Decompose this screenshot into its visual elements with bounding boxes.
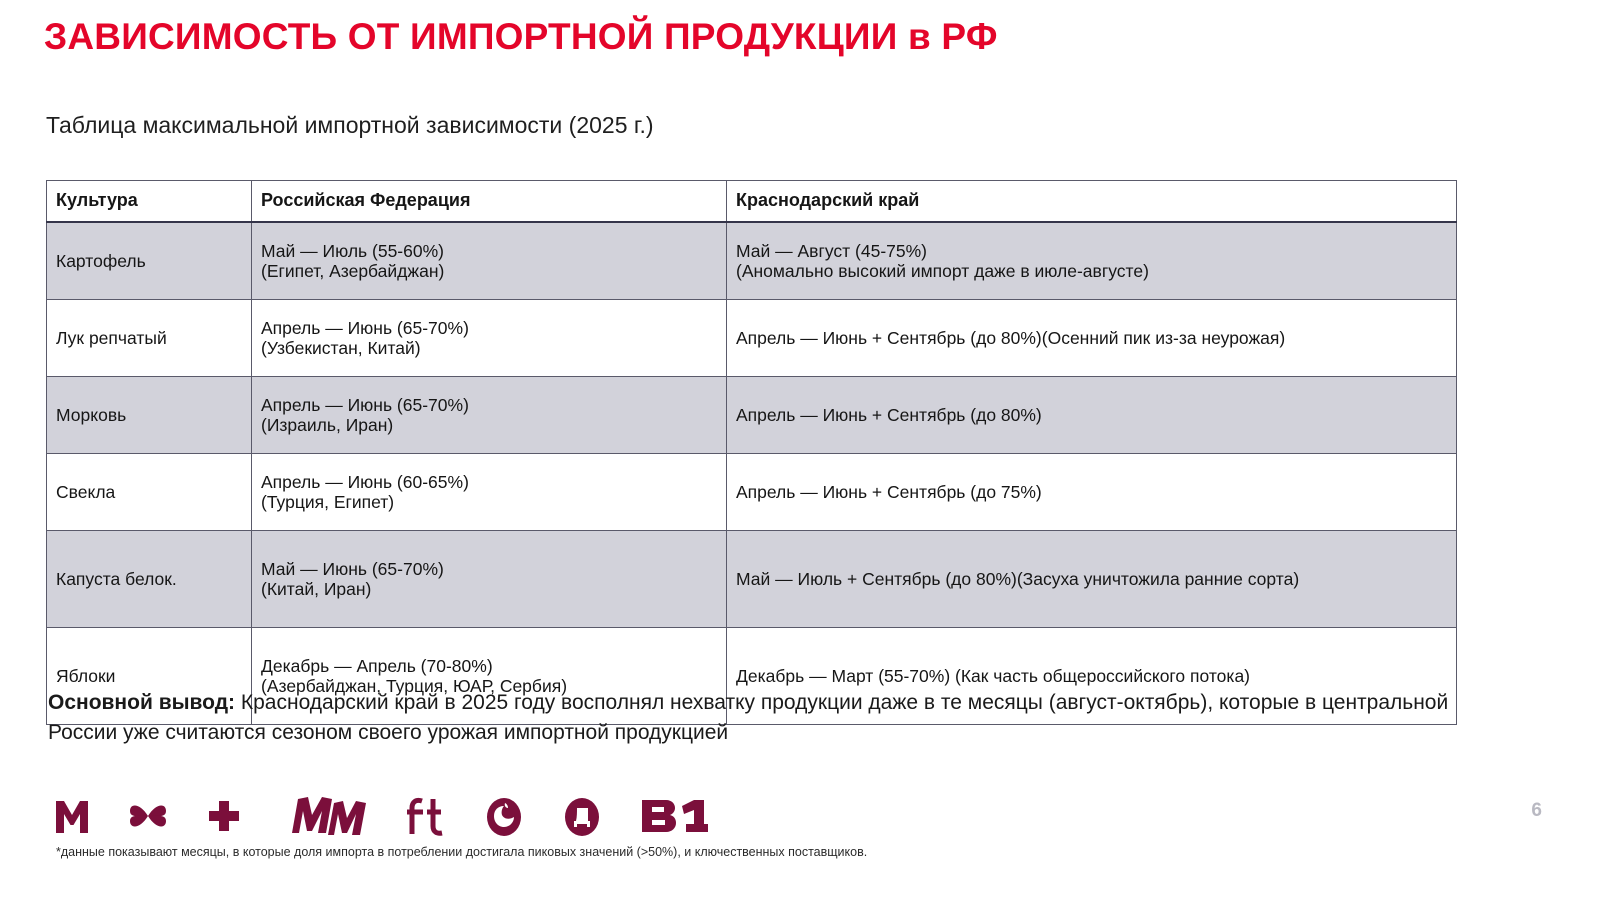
cell-line-primary: Апрель — Июнь (65-70%) (261, 318, 718, 338)
cell-line-primary: Апрель — Июнь (60-65%) (261, 472, 718, 492)
butterfly-logo-icon (126, 795, 170, 837)
conclusion-label: Основной вывод: (48, 691, 235, 714)
footnote-text: *данные показывают месяцы, в которые дол… (56, 845, 867, 859)
table-row: Лук репчатый Апрель — Июнь (65-70%) (Узб… (47, 300, 1457, 377)
cell-line-secondary: (Аномально высокий импорт даже в июле-ав… (736, 261, 1448, 281)
column-header-krasnodar: Краснодарский край (727, 181, 1457, 223)
cell-krasnodar: Апрель — Июнь + Сентябрь (до 80%)(Осенни… (727, 300, 1457, 377)
cell-culture: Картофель (47, 222, 252, 300)
cell-krasnodar: Апрель — Июнь + Сентябрь (до 80%) (727, 377, 1457, 454)
slide-subtitle: Таблица максимальной импортной зависимос… (46, 112, 654, 139)
table-row: Капуста белок. Май — Июнь (65-70%) (Кита… (47, 531, 1457, 628)
cell-culture: Капуста белок. (47, 531, 252, 628)
cell-line-primary: Апрель — Июнь + Сентябрь (до 80%) (736, 405, 1448, 425)
cell-culture: Лук репчатый (47, 300, 252, 377)
table-row: Морковь Апрель — Июнь (65-70%) (Израиль,… (47, 377, 1457, 454)
m-logo-icon (52, 795, 92, 837)
table-row: Свекла Апрель — Июнь (60-65%) (Турция, Е… (47, 454, 1457, 531)
cell-line-primary: Апрель — Июнь (65-70%) (261, 395, 718, 415)
d-circle-logo-icon (560, 793, 604, 839)
cell-line-secondary: (Китай, Иран) (261, 579, 718, 599)
table-header-row: Культура Российская Федерация Краснодарс… (47, 181, 1457, 223)
cell-line-secondary: (Египет, Азербайджан) (261, 261, 718, 281)
cell-line-primary: Май — Июнь (65-70%) (261, 559, 718, 579)
cell-russia: Май — Июль (55-60%) (Египет, Азербайджан… (252, 222, 727, 300)
cell-krasnodar: Апрель — Июнь + Сентябрь (до 75%) (727, 454, 1457, 531)
cell-line-primary: Май — Июль (55-60%) (261, 241, 718, 261)
cell-krasnodar: Май — Июль + Сентябрь (до 80%)(Засуха ун… (727, 531, 1457, 628)
apple-circle-logo-icon (482, 793, 526, 839)
cell-line-secondary: (Узбекистан, Китай) (261, 338, 718, 358)
table-header: Культура Российская Федерация Краснодарс… (47, 181, 1457, 223)
table-row: Картофель Май — Июль (55-60%) (Египет, А… (47, 222, 1457, 300)
cell-culture: Свекла (47, 454, 252, 531)
cell-line-primary: Апрель — Июнь + Сентябрь (до 80%)(Осенни… (736, 328, 1448, 348)
column-header-culture: Культура (47, 181, 252, 223)
plus-logo-icon (204, 795, 244, 837)
cell-line-primary: Декабрь — Апрель (70-80%) (261, 656, 718, 676)
b1-logo-icon (638, 794, 710, 838)
partner-logo-bar (52, 788, 710, 844)
conclusion-paragraph: Основной вывод: Краснодарский край в 202… (48, 688, 1478, 748)
cell-line-primary: Май — Август (45-75%) (736, 241, 1448, 261)
conclusion-text: Краснодарский край в 2025 году восполнял… (48, 691, 1448, 744)
cell-culture: Морковь (47, 377, 252, 454)
cell-russia: Апрель — Июнь (65-70%) (Израиль, Иран) (252, 377, 727, 454)
imports-table: Культура Российская Федерация Краснодарс… (46, 180, 1457, 725)
cell-russia: Апрель — Июнь (60-65%) (Турция, Египет) (252, 454, 727, 531)
table-body: Картофель Май — Июль (55-60%) (Египет, А… (47, 222, 1457, 725)
cell-line-primary: Апрель — Июнь + Сентябрь (до 75%) (736, 482, 1448, 502)
cell-line-secondary: (Турция, Египет) (261, 492, 718, 512)
mm-logo-icon (278, 793, 370, 839)
cell-line-primary: Май — Июль + Сентябрь (до 80%)(Засуха ун… (736, 569, 1448, 589)
cell-line-primary: Декабрь — Март (55-70%) (Как часть общер… (736, 666, 1448, 686)
cell-russia: Апрель — Июнь (65-70%) (Узбекистан, Кита… (252, 300, 727, 377)
cell-line-secondary: (Израиль, Иран) (261, 415, 718, 435)
page-number: 6 (1531, 800, 1542, 822)
ft-logo-icon (404, 794, 448, 838)
cell-krasnodar: Май — Август (45-75%) (Аномально высокий… (727, 222, 1457, 300)
cell-russia: Май — Июнь (65-70%) (Китай, Иран) (252, 531, 727, 628)
column-header-russia: Российская Федерация (252, 181, 727, 223)
slide-root: ЗАВИСИМОСТЬ ОТ ИМПОРТНОЙ ПРОДУКЦИИ в РФ … (0, 0, 1600, 900)
page-title: ЗАВИСИМОСТЬ ОТ ИМПОРТНОЙ ПРОДУКЦИИ в РФ (44, 16, 998, 58)
imports-table-container: Культура Российская Федерация Краснодарс… (46, 180, 1456, 725)
